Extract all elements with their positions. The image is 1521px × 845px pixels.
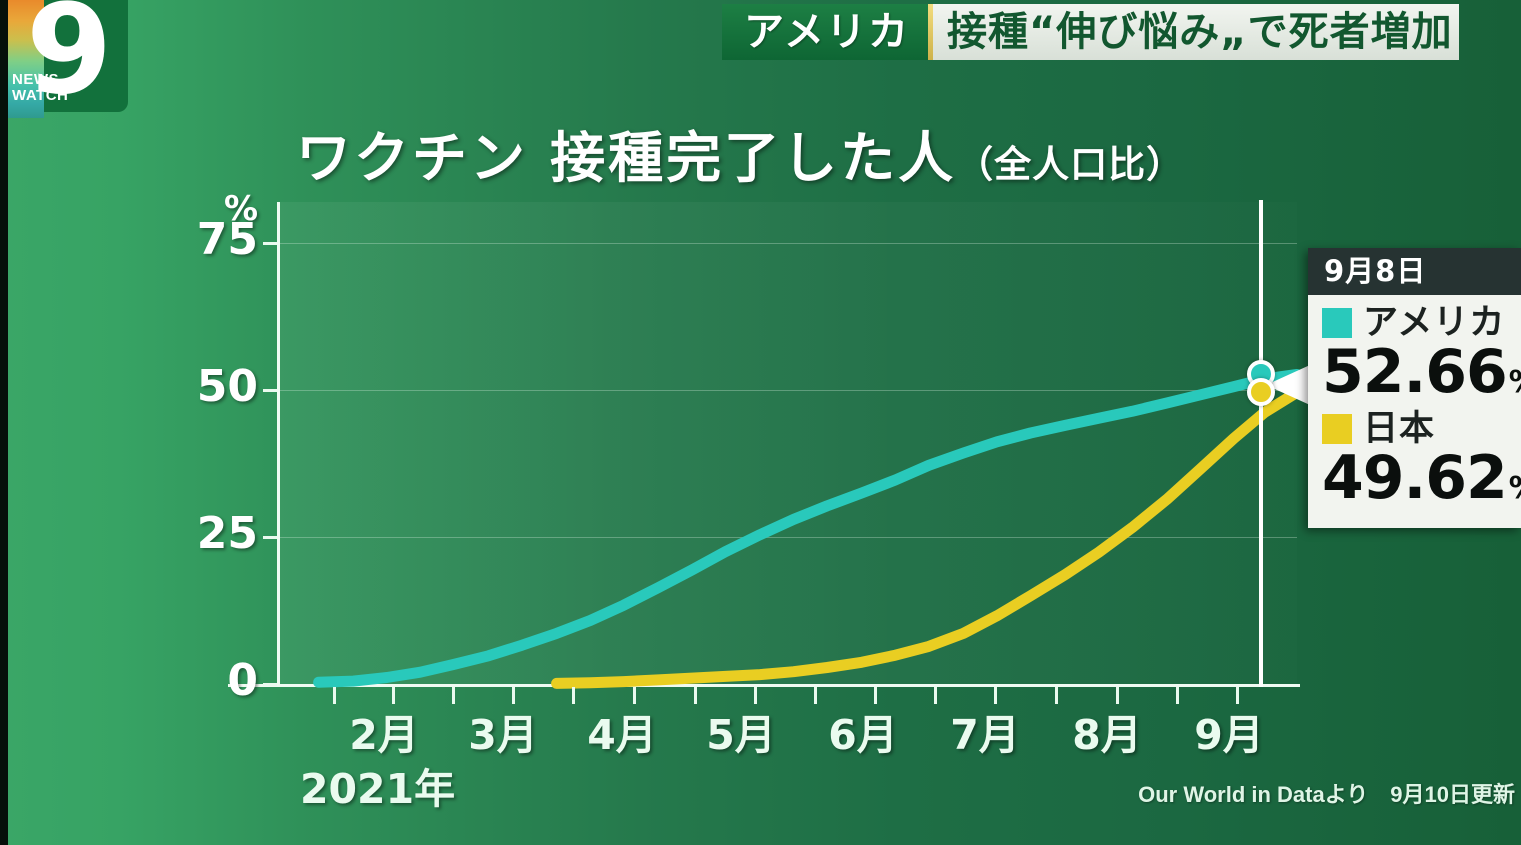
x-tick-label-8: 8月 bbox=[1072, 712, 1142, 758]
y-tick-label-75: 75 bbox=[197, 218, 258, 262]
x-tick-minor-9 bbox=[874, 687, 877, 704]
broadcast-chart-screen: 9 NEWS WATCH アメリカ 接種“伸び悩み„で死者増加 ワクチン 接種完… bbox=[0, 0, 1521, 845]
x-tick-minor-5 bbox=[633, 687, 636, 704]
y-tick-25 bbox=[263, 536, 277, 539]
unit-usa: % bbox=[1509, 366, 1521, 400]
y-tick-label-50: 50 bbox=[197, 365, 258, 409]
x-tick-minor-6 bbox=[694, 687, 697, 704]
y-tick-label-0: 0 bbox=[227, 659, 258, 703]
x-tick-minor-12 bbox=[1055, 687, 1058, 704]
series-line-usa bbox=[319, 375, 1297, 683]
x-tick-minor-11 bbox=[994, 687, 997, 704]
x-tick-minor-8 bbox=[814, 687, 817, 704]
x-tick-label-4: 4月 bbox=[587, 712, 657, 758]
x-tick-minor-0 bbox=[333, 687, 336, 704]
source-note: Our World in Dataより 9月10日更新 bbox=[1138, 782, 1515, 808]
x-tick-label-2: 2月 bbox=[349, 712, 419, 758]
x-tick-minor-10 bbox=[934, 687, 937, 704]
y-tick-75 bbox=[263, 242, 277, 245]
tooltip-body: アメリカ 52.66 % 日本 49.62 % bbox=[1308, 295, 1521, 528]
tooltip-value-japan: 49.62 % bbox=[1322, 446, 1511, 510]
x-tick-label-9: 9月 bbox=[1194, 712, 1264, 758]
series-line-japan bbox=[557, 392, 1297, 683]
x-tick-minor-13 bbox=[1116, 687, 1119, 704]
x-tick-minor-7 bbox=[754, 687, 757, 704]
x-tick-label-6: 6月 bbox=[828, 712, 898, 758]
x-tick-minor-15 bbox=[1236, 687, 1239, 704]
x-tick-minor-2 bbox=[452, 687, 455, 704]
y-tick-0 bbox=[263, 683, 277, 686]
value-japan: 49.62 bbox=[1322, 446, 1507, 510]
value-usa: 52.66 bbox=[1322, 340, 1507, 404]
legend-swatch-japan bbox=[1322, 414, 1352, 444]
value-tooltip-card: 9月8日 アメリカ 52.66 % 日本 49.62 % bbox=[1308, 248, 1521, 528]
y-tick-label-25: 25 bbox=[197, 512, 258, 556]
tooltip-value-usa: 52.66 % bbox=[1322, 340, 1511, 404]
x-tick-minor-1 bbox=[392, 687, 395, 704]
x-tick-label-5: 5月 bbox=[706, 712, 776, 758]
cursor-vertical-line[interactable] bbox=[1259, 200, 1263, 687]
x-tick-label-7: 7月 bbox=[950, 712, 1020, 758]
x-tick-minor-4 bbox=[572, 687, 575, 704]
x-tick-minor-14 bbox=[1176, 687, 1179, 704]
tooltip-date-header: 9月8日 bbox=[1308, 248, 1521, 295]
x-axis-year-label: 2021年 bbox=[300, 766, 455, 812]
y-tick-50 bbox=[263, 389, 277, 392]
x-tick-label-3: 3月 bbox=[468, 712, 538, 758]
x-tick-minor-3 bbox=[512, 687, 515, 704]
unit-japan: % bbox=[1509, 472, 1521, 506]
end-marker-japan[interactable] bbox=[1247, 378, 1275, 406]
legend-swatch-usa bbox=[1322, 308, 1352, 338]
